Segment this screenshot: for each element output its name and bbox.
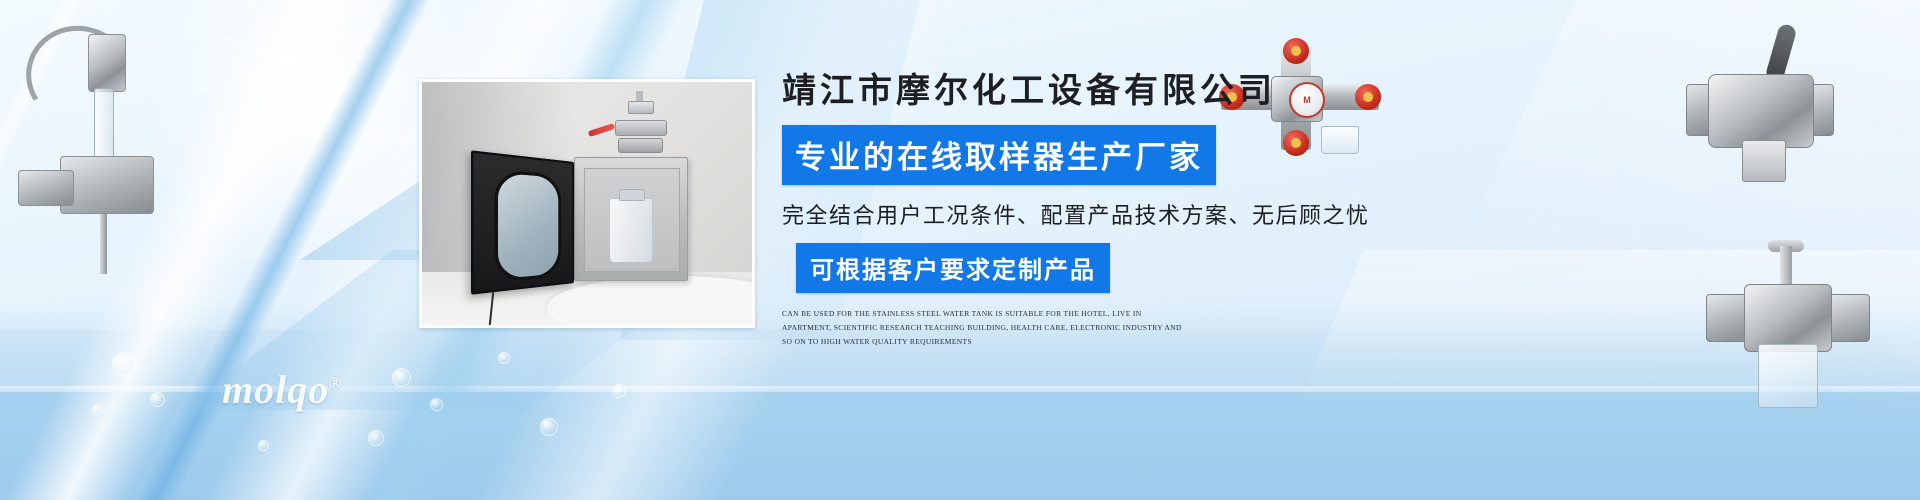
water-bubble-icon	[430, 398, 443, 411]
rig-valve-body	[60, 156, 154, 214]
water-bubble-icon	[112, 352, 136, 376]
red-valve-handle-icon	[1283, 38, 1309, 64]
sample-bottle-cap	[619, 189, 646, 200]
company-name: 靖江市摩尔化工设备有限公司	[782, 72, 1422, 111]
watermark-logo: molqo®	[222, 366, 342, 413]
sight-glass	[1758, 344, 1818, 408]
water-bubble-icon	[612, 384, 626, 398]
product-photo[interactable]	[419, 79, 755, 328]
watermark-text: molqo	[222, 367, 329, 412]
rig-sight-tube	[94, 88, 114, 166]
custom-product-badge: 可根据客户要求定制产品	[796, 243, 1110, 293]
sub-headline: 完全结合用户工况条件、配置产品技术方案、无后顾之忧	[782, 198, 1422, 230]
lever-bottom-cap	[1742, 140, 1786, 182]
valve-flange-upper	[615, 120, 667, 136]
banner-text-block: 靖江市摩尔化工设备有限公司 专业的在线取样器生产厂家 完全结合用户工况条件、配置…	[782, 72, 1422, 349]
sample-bottle	[609, 198, 652, 263]
valve-assembly	[610, 101, 669, 164]
sun-ray-icon	[285, 0, 287, 60]
sun-ray-icon	[285, 60, 287, 210]
water-bubble-icon	[540, 418, 558, 436]
water-bubble-icon	[92, 404, 103, 415]
valve-flange-right	[1828, 294, 1870, 342]
valve-red-handle	[587, 123, 615, 137]
promo-banner: M 靖江市摩尔化工设备有限公司 专业的在线取样器生产厂家 完全结合用户工况条件、…	[0, 0, 1920, 500]
valve-top-cap	[628, 101, 654, 113]
product-photo-image	[422, 82, 752, 325]
water-bubble-icon	[258, 440, 269, 451]
valve-body	[1744, 284, 1832, 352]
rig-side-hub	[18, 170, 74, 206]
water-bubble-icon	[498, 352, 510, 364]
lever-valve-body	[1708, 74, 1814, 148]
water-bubble-icon	[368, 430, 384, 446]
water-bubble-icon	[150, 392, 165, 407]
water-bubble-icon	[392, 368, 411, 387]
headline-badge: 专业的在线取样器生产厂家	[782, 125, 1216, 185]
valve-flange-lower	[618, 138, 663, 153]
lever-valve-illustration	[1680, 22, 1850, 192]
sampler-cabinet	[574, 157, 688, 281]
registered-mark-icon: ®	[329, 376, 342, 393]
fineprint-text: CAN BE USED FOR THE STAINLESS STEEL WATE…	[782, 307, 1182, 349]
sight-glass-valve-illustration	[1700, 240, 1880, 420]
valve-flange-left	[1706, 294, 1748, 342]
rig-housing	[88, 34, 126, 92]
cabinet-door	[471, 150, 574, 294]
sampler-rig-illustration	[8, 18, 168, 308]
cabinet-interior	[584, 168, 680, 272]
valve-stem	[1780, 246, 1792, 288]
cabinet-door-window	[494, 169, 561, 283]
